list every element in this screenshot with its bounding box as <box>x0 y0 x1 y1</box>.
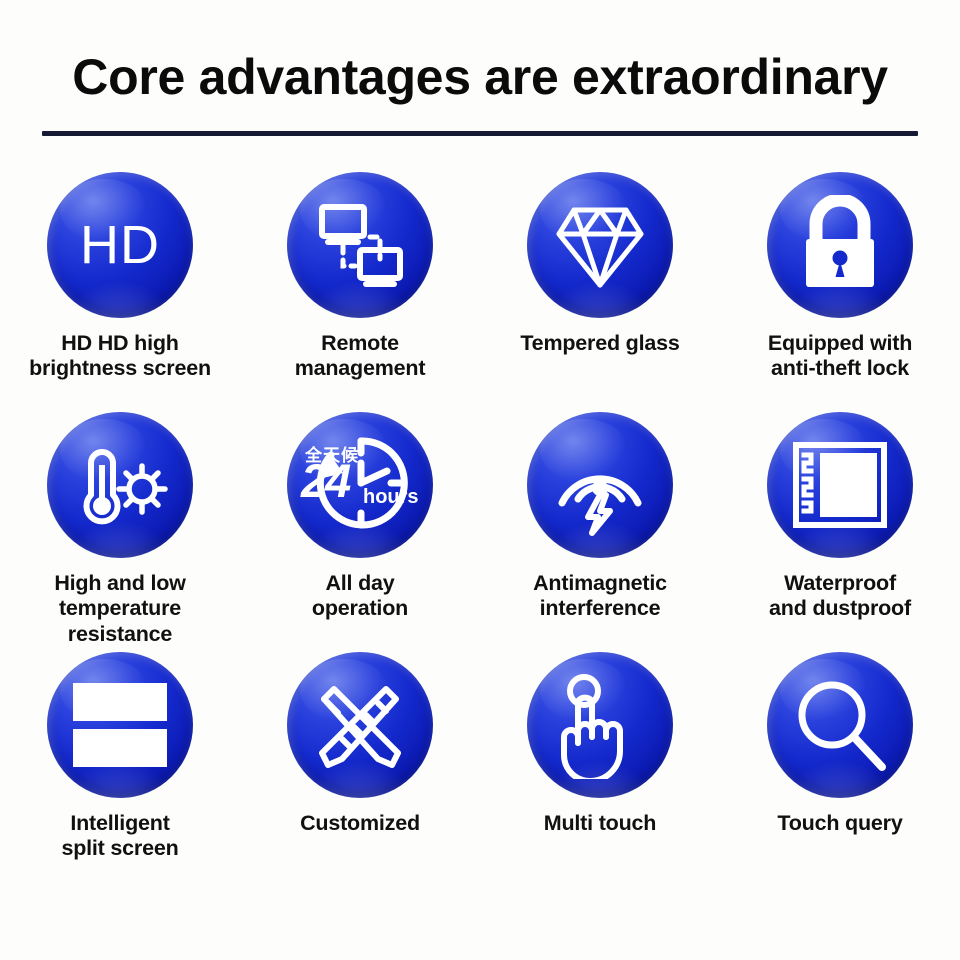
feature-caption: All day operation <box>312 571 408 622</box>
pencil-ruler-icon <box>287 652 433 798</box>
feature-item-anti-theft-lock[interactable]: Equipped with anti-theft lock <box>726 172 954 412</box>
feature-caption: Antimagnetic interference <box>533 571 667 622</box>
hd-icon: HD <box>47 172 193 318</box>
diamond-icon <box>527 172 673 318</box>
title-divider <box>42 131 918 136</box>
features-grid: HD HD HD high brightness screen <box>0 172 960 892</box>
padlock-icon <box>767 172 913 318</box>
feature-caption: Remote management <box>295 331 426 382</box>
touch-hand-icon <box>527 652 673 798</box>
clock-24-hours-icon: 全天候 24 hours <box>287 412 433 558</box>
feature-item-antimagnetic[interactable]: Antimagnetic interference <box>486 412 714 652</box>
feature-caption: HD HD high brightness screen <box>29 331 211 382</box>
thermometer-sun-icon <box>47 412 193 558</box>
feature-item-multi-touch[interactable]: Multi touch <box>486 652 714 892</box>
page-header: Core advantages are extraordinary <box>0 0 960 136</box>
feature-item-tempered-glass[interactable]: Tempered glass <box>486 172 714 412</box>
feature-item-all-day-operation[interactable]: 全天候 24 hours All day operation <box>246 412 474 652</box>
feature-grid-page: Core advantages are extraordinary HD HD … <box>0 0 960 960</box>
feature-caption: Equipped with anti-theft lock <box>768 331 912 382</box>
waterproof-droplet-icon <box>767 412 913 558</box>
feature-item-temperature-resistance[interactable]: High and low temperature resistance <box>6 412 234 652</box>
page-title: Core advantages are extraordinary <box>0 52 960 102</box>
feature-caption: Intelligent split screen <box>61 811 178 862</box>
split-screen-icon <box>47 652 193 798</box>
feature-caption: High and low temperature resistance <box>6 571 234 647</box>
antimagnetic-signal-icon <box>527 412 673 558</box>
feature-item-waterproof-dustproof[interactable]: Waterproof and dustproof <box>726 412 954 652</box>
feature-caption: Multi touch <box>544 811 656 836</box>
feature-caption: Waterproof and dustproof <box>769 571 911 622</box>
feature-item-remote-management[interactable]: Remote management <box>246 172 474 412</box>
feature-item-split-screen[interactable]: Intelligent split screen <box>6 652 234 892</box>
feature-item-hd[interactable]: HD HD HD high brightness screen <box>6 172 234 412</box>
feature-caption: Tempered glass <box>520 331 679 356</box>
feature-item-customized[interactable]: Customized <box>246 652 474 892</box>
hd-icon-label: HD <box>80 218 160 272</box>
remote-network-icon <box>287 172 433 318</box>
all-day-unit: hours <box>363 487 419 507</box>
feature-item-touch-query[interactable]: Touch query <box>726 652 954 892</box>
all-day-number: 24 <box>301 457 349 504</box>
feature-caption: Customized <box>300 811 420 836</box>
feature-caption: Touch query <box>777 811 902 836</box>
magnifier-icon <box>767 652 913 798</box>
